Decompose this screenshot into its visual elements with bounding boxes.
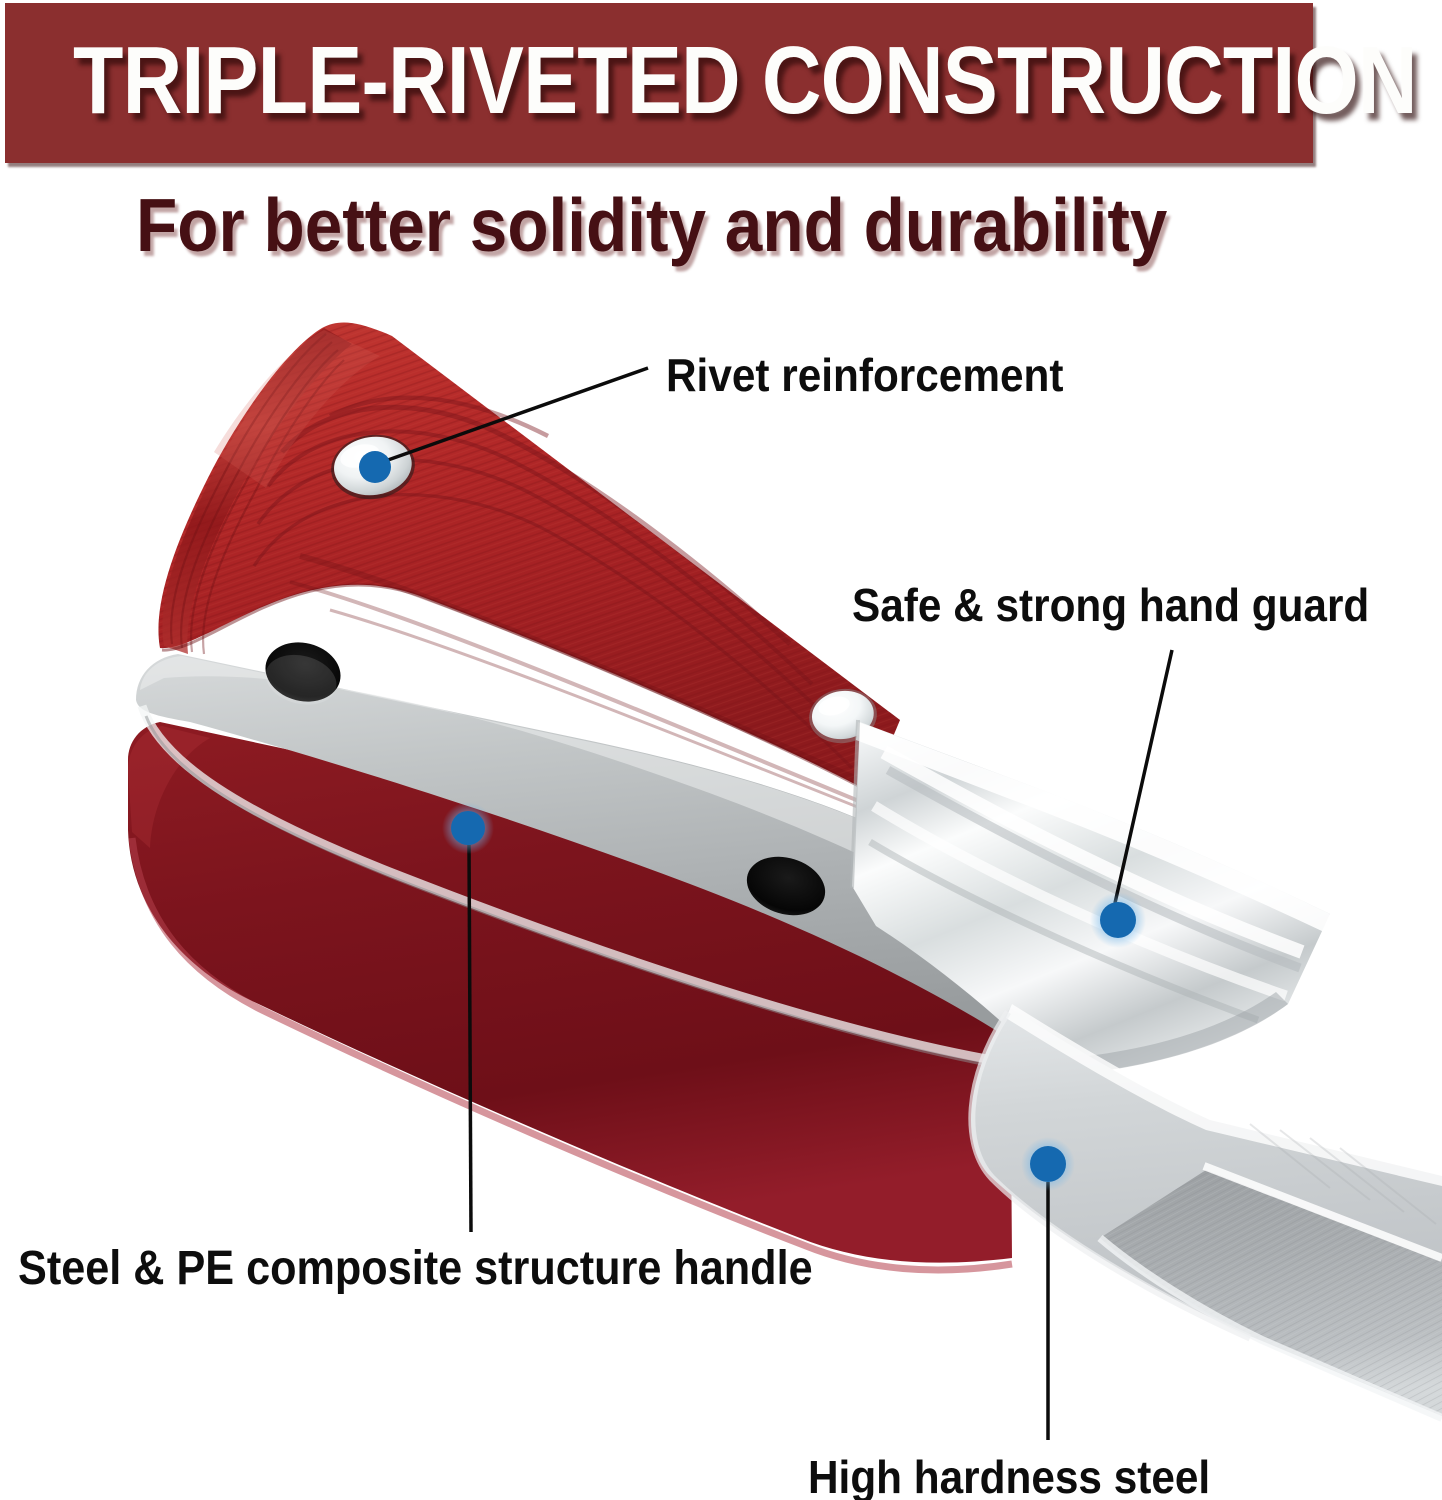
blade xyxy=(971,1004,1442,1418)
callout-label-composite-handle: Steel & PE composite structure handle xyxy=(18,1241,813,1296)
callout-label-hand-guard: Safe & strong hand guard xyxy=(852,578,1369,632)
marker-high-hardness-steel xyxy=(1030,1146,1066,1182)
callout-label-high-hardness-steel: High hardness steel xyxy=(808,1450,1210,1500)
marker-composite-handle xyxy=(451,811,485,845)
leader-composite-handle xyxy=(469,845,471,1232)
callout-label-rivet-reinforcement: Rivet reinforcement xyxy=(666,348,1063,402)
infographic-page: TRIPLE-RIVETED CONSTRUCTION For better s… xyxy=(0,0,1442,1500)
marker-hand-guard xyxy=(1100,902,1136,938)
marker-rivet-reinforcement xyxy=(359,451,391,483)
